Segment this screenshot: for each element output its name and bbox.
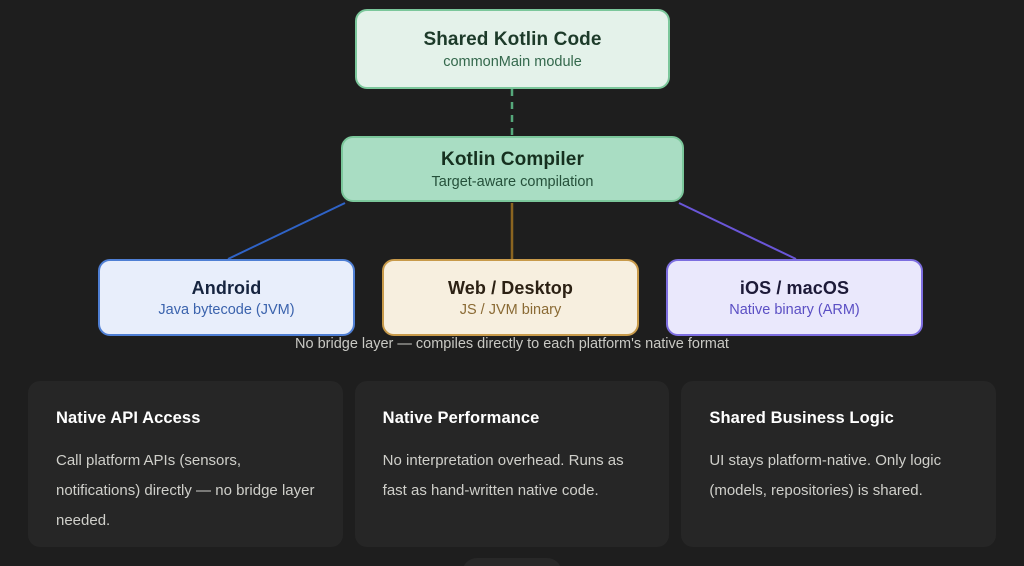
card-heading: Native Performance <box>383 409 642 428</box>
node-target-ios-macos[interactable]: iOS / macOS Native binary (ARM) <box>666 259 923 336</box>
node-subtitle: JS / JVM binary <box>460 302 562 318</box>
node-title: Shared Kotlin Code <box>423 29 601 51</box>
benefit-card: Native API Access Call platform APIs (se… <box>28 381 343 547</box>
node-kotlin-compiler[interactable]: Kotlin Compiler Target-aware compilation <box>341 136 684 202</box>
card-body: UI stays platform-native. Only logic (mo… <box>709 446 968 506</box>
benefit-card: Native Performance No interpretation ove… <box>355 381 670 547</box>
node-title: iOS / macOS <box>740 278 849 299</box>
diagram-caption: No bridge layer — compiles directly to e… <box>0 336 1024 352</box>
node-target-web-desktop[interactable]: Web / Desktop JS / JVM binary <box>382 259 639 336</box>
benefit-cards: Native API Access Call platform APIs (se… <box>28 381 996 547</box>
node-target-android[interactable]: Android Java bytecode (JVM) <box>98 259 355 336</box>
node-title: Web / Desktop <box>448 278 573 299</box>
diagram-canvas: Shared Kotlin Code commonMain module Kot… <box>0 0 1024 566</box>
connector-compiler-to-android <box>228 203 345 259</box>
card-body: No interpretation overhead. Runs as fast… <box>383 446 642 506</box>
card-heading: Shared Business Logic <box>709 409 968 428</box>
node-subtitle: Native binary (ARM) <box>729 302 860 318</box>
node-title: Android <box>192 278 262 299</box>
connector-compiler-to-ios <box>679 203 796 259</box>
offscreen-element-sliver <box>462 558 562 566</box>
benefit-card: Shared Business Logic UI stays platform-… <box>681 381 996 547</box>
node-subtitle: Java bytecode (JVM) <box>158 302 294 318</box>
node-shared-kotlin-code[interactable]: Shared Kotlin Code commonMain module <box>355 9 670 89</box>
node-subtitle: commonMain module <box>443 54 582 70</box>
node-title: Kotlin Compiler <box>441 149 584 171</box>
card-heading: Native API Access <box>56 409 315 428</box>
card-body: Call platform APIs (sensors, notificatio… <box>56 446 315 536</box>
node-subtitle: Target-aware compilation <box>432 174 594 190</box>
